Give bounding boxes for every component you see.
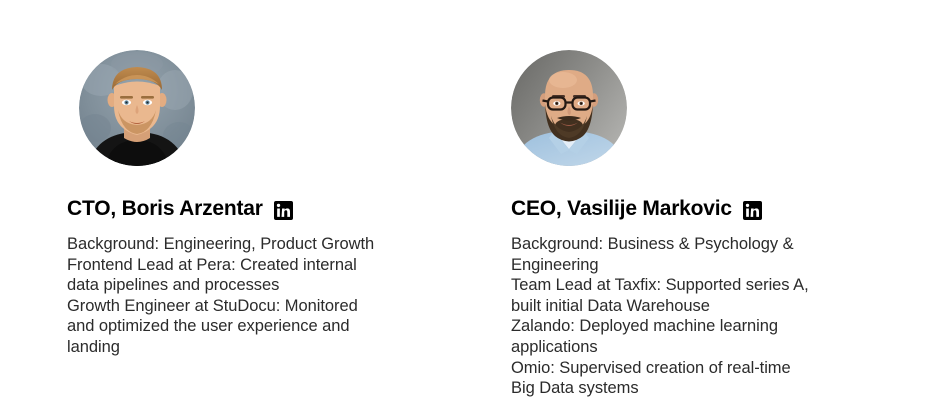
bio-line: data pipelines and processes bbox=[67, 275, 374, 296]
bio-line: Frontend Lead at Pera: Created internal bbox=[67, 255, 374, 276]
bio-line: Growth Engineer at StuDocu: Monitored bbox=[67, 296, 374, 317]
bio-line: and optimized the user experience and bbox=[67, 316, 374, 337]
bio-line: built initial Data Warehouse bbox=[511, 296, 861, 317]
profile-card-boris-arzentar: CTO, Boris Arzentar Background: Engineer… bbox=[67, 0, 467, 166]
team-profiles-section: CTO, Boris Arzentar Background: Engineer… bbox=[0, 0, 948, 412]
profile-name-row: CEO, Vasilije Markovic bbox=[511, 196, 762, 222]
bio-line: Engineering bbox=[511, 255, 861, 276]
linkedin-icon[interactable] bbox=[743, 201, 762, 220]
avatar-photo-vasilije bbox=[511, 50, 627, 166]
person-name: CTO, Boris Arzentar bbox=[67, 196, 263, 222]
person-name: CEO, Vasilije Markovic bbox=[511, 196, 732, 222]
linkedin-icon[interactable] bbox=[274, 201, 293, 220]
profile-bio: Background: Business & Psychology & Engi… bbox=[511, 234, 861, 399]
avatar-photo-boris bbox=[79, 50, 195, 166]
bio-line: Zalando: Deployed machine learning bbox=[511, 316, 861, 337]
avatar bbox=[511, 50, 627, 166]
bio-line: applications bbox=[511, 337, 861, 358]
bio-line: Team Lead at Taxfix: Supported series A, bbox=[511, 275, 861, 296]
bio-line: Omio: Supervised creation of real-time bbox=[511, 358, 861, 379]
profile-card-vasilije-markovic: CEO, Vasilije Markovic Background: Busin… bbox=[511, 0, 911, 166]
profile-name-row: CTO, Boris Arzentar bbox=[67, 196, 293, 222]
avatar bbox=[79, 50, 195, 166]
bio-line: Background: Business & Psychology & bbox=[511, 234, 861, 255]
bio-line: Background: Engineering, Product Growth bbox=[67, 234, 374, 255]
bio-line: landing bbox=[67, 337, 374, 358]
bio-line: Big Data systems bbox=[511, 378, 861, 399]
profile-bio: Background: Engineering, Product Growth … bbox=[67, 234, 374, 358]
